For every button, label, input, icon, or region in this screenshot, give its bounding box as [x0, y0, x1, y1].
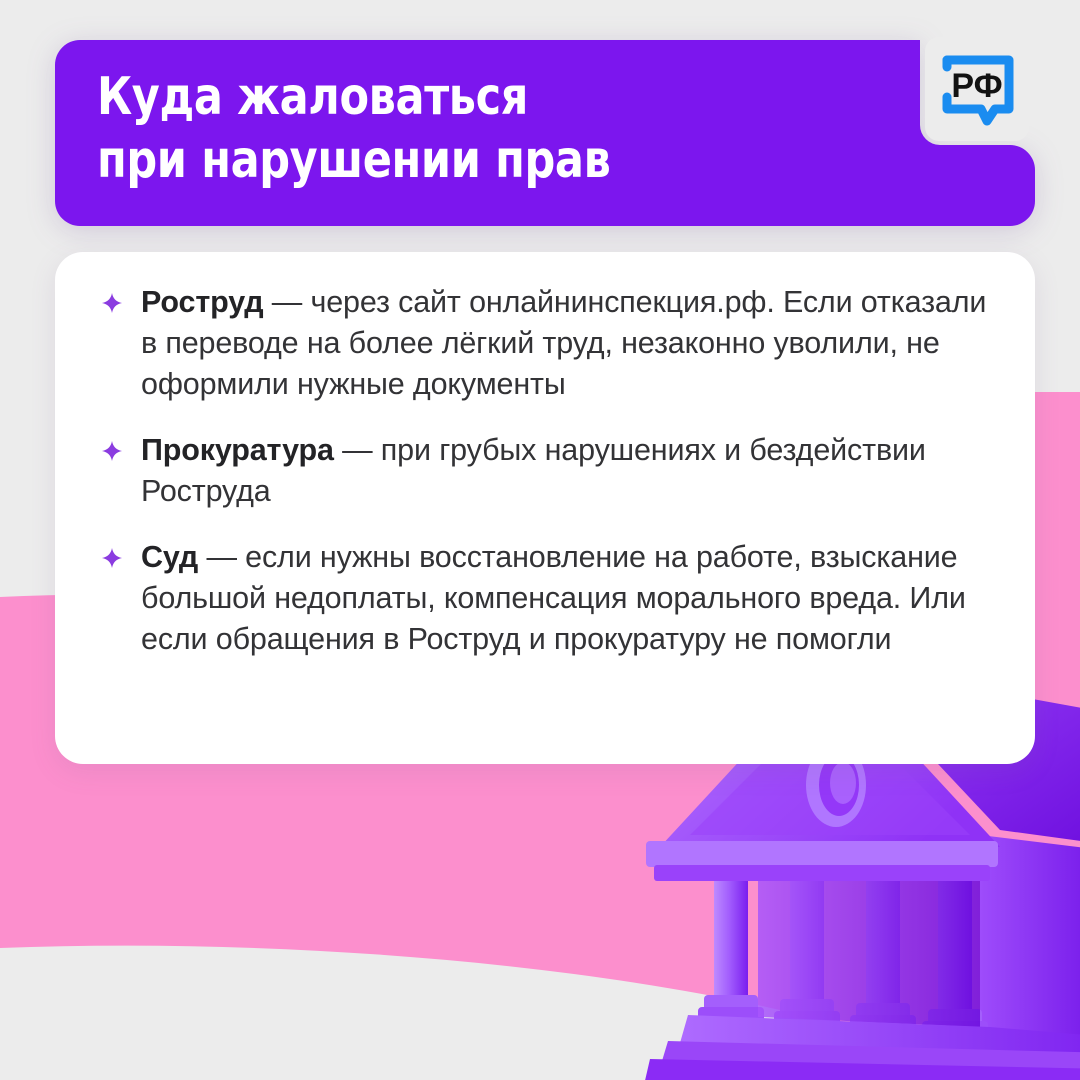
logo-text: РФ — [951, 67, 1002, 105]
list-item-lead: Суд — [141, 540, 198, 574]
entablature — [646, 841, 998, 867]
obyasnyaem-rf-logo[interactable]: РФ — [925, 37, 1029, 141]
list-item: Прокуратура — при грубых нарушениях и бе… — [95, 430, 989, 512]
advice-list: Роструд — через сайт онлайнинспекция.рф.… — [95, 282, 989, 660]
list-item: Роструд — через сайт онлайнинспекция.рф.… — [95, 282, 989, 405]
page-title: Куда жаловаться при нарушении прав — [97, 66, 833, 192]
column — [698, 881, 764, 1025]
list-item-text: — если нужны восстановление на работе, в… — [141, 540, 966, 656]
list-item-text: — через сайт онлайнинспекция.рф. Если от… — [141, 285, 986, 401]
list-item-lead: Роструд — [141, 285, 263, 319]
header-banner: Куда жаловаться при нарушении прав — [55, 40, 1035, 226]
list-item-lead: Прокуратура — [141, 433, 334, 467]
diamond-bullet-icon — [102, 293, 122, 313]
content-card: Роструд — через сайт онлайнинспекция.рф.… — [55, 252, 1035, 764]
infographic-canvas: Куда жаловаться при нарушении прав РФ Ро… — [0, 0, 1080, 1080]
list-item: Суд — если нужны восстановление на работ… — [95, 537, 989, 660]
diamond-bullet-icon — [102, 548, 122, 568]
portico-back-wall — [758, 881, 980, 1027]
diamond-bullet-icon — [102, 441, 122, 461]
